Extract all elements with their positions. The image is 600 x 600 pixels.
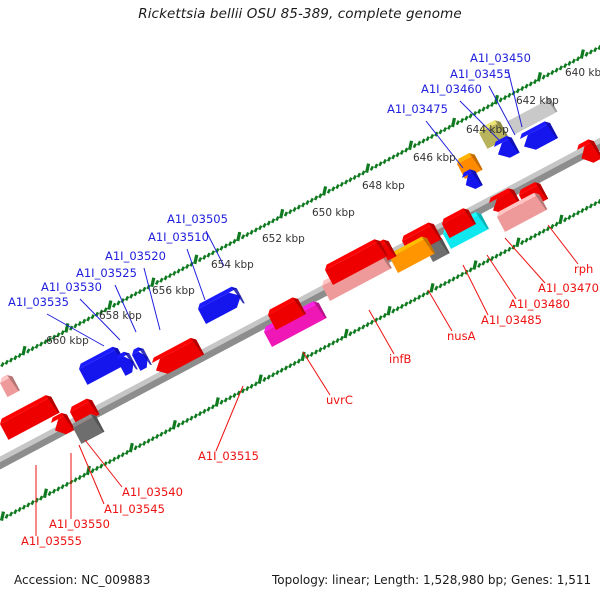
gene-label-a1i_03520[interactable]: A1I_03520 (105, 249, 166, 263)
gene-blue-7[interactable] (130, 345, 152, 371)
gene-pink-3[interactable] (0, 373, 20, 397)
scale-label-650-kbp: 650 kbp (312, 207, 355, 219)
gene-label-a1i_03485[interactable]: A1I_03485 (481, 313, 542, 327)
gene-label-rph[interactable]: rph (574, 262, 593, 276)
gene-label-nusa[interactable]: nusA (447, 329, 476, 343)
gene-leader-a1i_03515 (216, 386, 243, 451)
gene-leader-a1i_03485 (463, 265, 488, 315)
gene-label-a1i_03470[interactable]: A1I_03470 (538, 281, 599, 295)
gene-label-a1i_03510[interactable]: A1I_03510 (148, 230, 209, 244)
gene-label-a1i_03460[interactable]: A1I_03460 (421, 82, 482, 96)
gene-label-a1i_03505[interactable]: A1I_03505 (167, 212, 228, 226)
gene-label-a1i_03480[interactable]: A1I_03480 (509, 297, 570, 311)
gene-leader-a1i_03480 (487, 255, 516, 299)
gene-label-a1i_03550[interactable]: A1I_03550 (49, 517, 110, 531)
gene-label-a1i_03530[interactable]: A1I_03530 (41, 280, 102, 294)
scale-label-644-kbp: 644 kbp (466, 124, 509, 136)
scale-label-652-kbp: 652 kbp (262, 233, 305, 245)
genome-map-view: Rickettsia bellii OSU 85-389, complete g… (0, 0, 600, 600)
scale-label-658-kbp: 658 kbp (99, 310, 142, 322)
genome-diagram-canvas: 640 kbp642 kbp644 kbp646 kbp648 kbp650 k… (0, 0, 600, 600)
scale-label-656-kbp: 656 kbp (152, 285, 195, 297)
gene-leader-uvrc (303, 352, 330, 395)
gene-leader-a1i_03470 (505, 238, 545, 283)
genome-stats-text: Topology: linear; Length: 1,528,980 bp; … (272, 573, 591, 587)
scale-label-646-kbp: 646 kbp (413, 152, 456, 164)
gene-label-a1i_03540[interactable]: A1I_03540 (122, 485, 183, 499)
gene-leader-a1i_03540 (85, 440, 122, 487)
gene-label-uvrc[interactable]: uvrC (326, 393, 353, 407)
gene-label-a1i_03455[interactable]: A1I_03455 (450, 67, 511, 81)
scale-label-642-kbp: 642 kbp (516, 95, 559, 107)
gene-label-a1i_03450[interactable]: A1I_03450 (470, 51, 531, 65)
scale-label-648-kbp: 648 kbp (362, 180, 405, 192)
gene-label-a1i_03515[interactable]: A1I_03515 (198, 449, 259, 463)
gene-leader-a1i_03525 (115, 285, 136, 332)
gene-leader-a1i_03520 (144, 268, 160, 330)
scale-label-660-kbp: 660 kbp (46, 335, 89, 347)
scale-label-654-kbp: 654 kbp (211, 259, 254, 271)
gene-label-a1i_03555[interactable]: A1I_03555 (21, 534, 82, 548)
gene-label-a1i_03535[interactable]: A1I_03535 (8, 295, 69, 309)
scale-label-640-kbp: 640 kbp (565, 67, 600, 79)
gene-label-a1i_03525[interactable]: A1I_03525 (76, 266, 137, 280)
accession-text: Accession: NC_009883 (14, 573, 150, 587)
gene-label-a1i_03475[interactable]: A1I_03475 (387, 102, 448, 116)
gene-label-infb[interactable]: infB (389, 352, 412, 366)
gene-label-a1i_03545[interactable]: A1I_03545 (104, 502, 165, 516)
gene-leader-a1i_03545 (79, 445, 104, 504)
gene-blue-5[interactable] (77, 345, 126, 385)
gene-blue-4[interactable] (196, 285, 245, 324)
gene-leader-rph (548, 225, 578, 264)
gene-leader-nusa (428, 290, 452, 331)
